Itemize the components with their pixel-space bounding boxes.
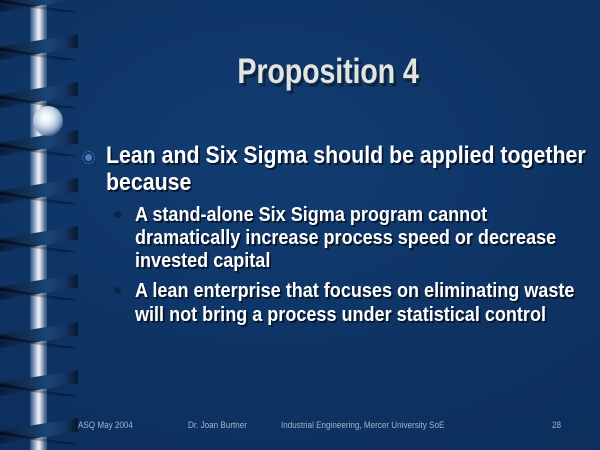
slide-body: Lean and Six Sigma should be applied tog…: [78, 142, 588, 333]
presentation-slide: Proposition 4 Lean and Six Sigma should …: [0, 0, 600, 450]
slide-title: Proposition 4: [123, 52, 533, 92]
bullet-level2: A lean enterprise that focuses on elimin…: [78, 279, 588, 325]
bullet-level2-text: A lean enterprise that focuses on elimin…: [135, 279, 589, 325]
slide-footer: ASQ May 2004 Dr. Joan Burtner Industrial…: [0, 420, 600, 436]
footer-organization: Industrial Engineering, Mercer Universit…: [281, 420, 444, 430]
radial-burst-bullet-icon: [82, 151, 95, 164]
round-dot-bullet-icon: [114, 211, 121, 218]
bullet-level2-text: A stand-alone Six Sigma program cannot d…: [135, 203, 589, 272]
title-divider-bar: [44, 113, 600, 128]
round-dot-bullet-icon: [114, 287, 121, 294]
bullet-level1-text: Lean and Six Sigma should be applied tog…: [106, 142, 588, 197]
footer-author: Dr. Joan Burtner: [188, 420, 247, 430]
bullet-level1: Lean and Six Sigma should be applied tog…: [78, 142, 588, 197]
glowing-orb-icon: [33, 106, 63, 136]
footer-date: ASQ May 2004: [78, 420, 133, 430]
footer-page-number: 28: [552, 420, 561, 430]
helix-ribbon-graphic: [0, 0, 78, 450]
bullet-level2: A stand-alone Six Sigma program cannot d…: [78, 203, 588, 272]
sub-bullet-group: A stand-alone Six Sigma program cannot d…: [78, 203, 588, 326]
